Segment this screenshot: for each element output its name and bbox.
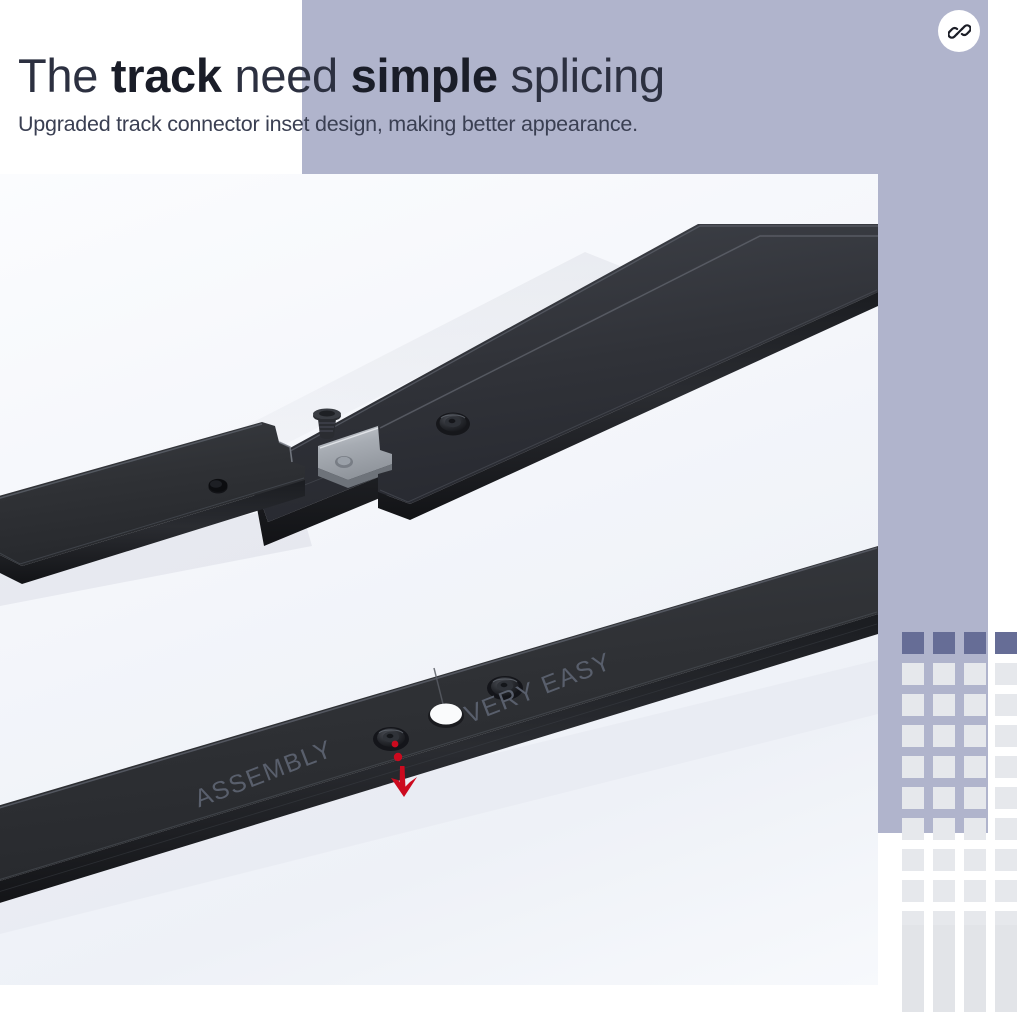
header-band: The track need simple splicing Upgraded … xyxy=(0,0,1024,174)
deco-bar xyxy=(933,925,955,1012)
deco-grid-cell xyxy=(964,849,986,871)
open-hole xyxy=(430,704,462,725)
deco-grid-cell xyxy=(933,725,955,747)
recessed-screw-left xyxy=(373,727,409,751)
deco-grid-cell xyxy=(995,632,1017,654)
deco-grid-cell xyxy=(902,849,924,871)
deco-grid-cell xyxy=(902,725,924,747)
deco-grid-cell xyxy=(933,663,955,685)
page-title-run-2: need xyxy=(222,49,351,102)
recessed-screw-upper xyxy=(436,413,470,436)
deco-grid-cell xyxy=(995,725,1017,747)
vertical-bars-pattern xyxy=(902,925,1024,1012)
deco-grid-cell xyxy=(902,694,924,716)
deco-grid-cell xyxy=(902,663,924,685)
deco-grid-cell xyxy=(933,818,955,840)
deco-grid-cell xyxy=(933,632,955,654)
deco-grid-cell xyxy=(995,663,1017,685)
deco-grid-cell xyxy=(995,756,1017,778)
deco-grid-cell xyxy=(902,756,924,778)
deco-grid-row xyxy=(902,756,1024,787)
chain-link-icon xyxy=(948,20,971,43)
deco-grid-cell xyxy=(902,632,924,654)
deco-grid-cell xyxy=(902,818,924,840)
deco-grid-cell xyxy=(964,818,986,840)
header-text-group: The track need simple splicing Upgraded … xyxy=(18,50,978,137)
product-illustration xyxy=(0,174,878,985)
page-title-run-4: splicing xyxy=(498,49,665,102)
page-title-run-0: The xyxy=(18,49,111,102)
deco-grid-row xyxy=(902,787,1024,818)
deco-grid-cell xyxy=(995,694,1017,716)
deco-grid-cell xyxy=(964,694,986,716)
deco-grid-cell xyxy=(902,787,924,809)
deco-bar xyxy=(964,925,986,1012)
page-title-run-1: track xyxy=(111,49,222,102)
deco-grid-row xyxy=(902,663,1024,694)
deco-bar xyxy=(995,925,1017,1012)
deco-grid-cell xyxy=(933,849,955,871)
deco-grid-row xyxy=(902,880,1024,911)
deco-grid-cell xyxy=(995,818,1017,840)
deco-grid-cell xyxy=(995,787,1017,809)
deco-grid-cell xyxy=(995,849,1017,871)
page-subtitle: Upgraded track connector inset design, m… xyxy=(18,111,978,137)
deco-grid-row xyxy=(902,632,1024,663)
deco-grid-cell xyxy=(964,756,986,778)
deco-grid-row xyxy=(902,818,1024,849)
deco-bar xyxy=(902,925,924,1012)
deco-grid-cell xyxy=(902,880,924,902)
deco-grid-row xyxy=(902,694,1024,725)
deco-grid-cell xyxy=(933,694,955,716)
deco-grid-cell xyxy=(964,663,986,685)
deco-grid-cell xyxy=(933,880,955,902)
page-title-run-3: simple xyxy=(351,49,498,102)
deco-grid-cell xyxy=(933,787,955,809)
deco-grid-cell xyxy=(964,787,986,809)
deco-grid-cell xyxy=(933,756,955,778)
deco-grid-cell xyxy=(964,632,986,654)
deco-grid-cell xyxy=(964,725,986,747)
deco-grid-cell xyxy=(964,880,986,902)
deco-grid-row xyxy=(902,725,1024,756)
chain-link-badge xyxy=(938,10,980,52)
product-photo: ASSEMBLY VERY EASY xyxy=(0,174,878,985)
square-grid-pattern xyxy=(902,632,1024,973)
deco-grid-cell xyxy=(995,880,1017,902)
deco-grid-row xyxy=(902,849,1024,880)
page-title: The track need simple splicing xyxy=(18,50,978,102)
